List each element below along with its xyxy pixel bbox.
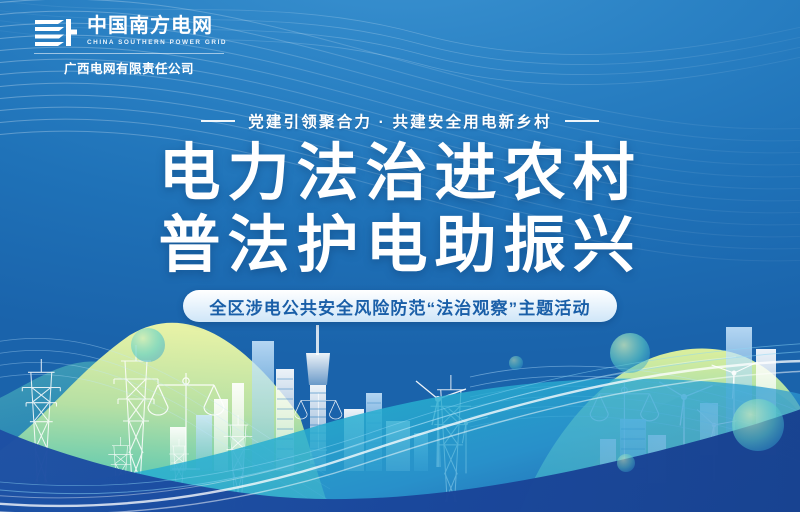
brand-logo: 中国南方电网 CHINA SOUTHERN POWER GRID 广西电网有限责…: [34, 16, 224, 77]
slogan-text: 党建引领聚合力 · 共建安全用电新乡村: [248, 110, 552, 132]
translucent-circle: [617, 454, 635, 472]
translucent-circle: [131, 328, 165, 362]
logo-divider: [34, 53, 224, 54]
slogan-rule-right: [565, 120, 599, 122]
illustration-scene: [0, 307, 800, 512]
logo-subsidiary: 广西电网有限责任公司: [34, 58, 224, 77]
power-grid-logo-icon: [34, 17, 78, 47]
logo-company-en: CHINA SOUTHERN POWER GRID: [87, 39, 227, 47]
slogan-row: 党建引领聚合力 · 共建安全用电新乡村: [0, 110, 800, 132]
event-banner-pill: 全区涉电公共安全风险防范“法治观察”主题活动: [183, 290, 616, 322]
slogan-rule-left: [201, 120, 235, 122]
title-line-2: 普法护电助振兴: [0, 210, 800, 282]
translucent-circle: [610, 333, 650, 373]
poster-canvas: 中国南方电网 CHINA SOUTHERN POWER GRID 广西电网有限责…: [0, 0, 800, 512]
page-title: 电力法治进农村 普法护电助振兴: [0, 138, 800, 282]
translucent-circle: [509, 356, 523, 370]
event-banner-text: 全区涉电公共安全风险防范“法治观察”主题活动: [209, 294, 590, 319]
title-line-1: 电力法治进农村: [0, 138, 800, 210]
banner-row: 全区涉电公共安全风险防范“法治观察”主题活动: [0, 290, 800, 322]
translucent-circle: [732, 399, 784, 451]
logo-company-cn: 中国南方电网: [87, 16, 227, 37]
